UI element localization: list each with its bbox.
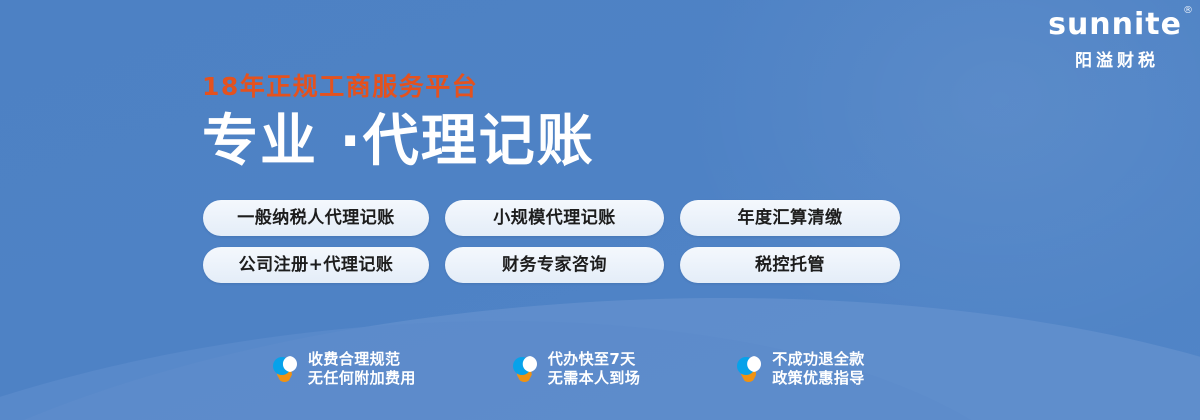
feature-item-pricing: 收费合理规范 无任何附加费用	[272, 350, 416, 388]
feature-text-guarantee: 不成功退全款 政策优惠指导	[772, 350, 864, 388]
service-pill-small-scale-bookkeeping[interactable]: 小规模代理记账	[445, 200, 664, 236]
service-pill-row-1: 一般纳税人代理记账 小规模代理记账 年度汇算清缴	[203, 200, 900, 236]
feature-text-pricing: 收费合理规范 无任何附加费用	[308, 350, 416, 388]
feature-line-1: 不成功退全款	[772, 350, 864, 368]
service-pill-finance-expert-consulting[interactable]: 财务专家咨询	[445, 247, 664, 283]
service-pill-company-registration-bookkeeping[interactable]: 公司注册+代理记账	[203, 247, 429, 283]
registered-trademark-icon: ®	[1183, 6, 1194, 16]
service-pill-annual-tax-settlement[interactable]: 年度汇算清缴	[680, 200, 900, 236]
background-wave-upper	[0, 276, 1097, 420]
service-pill-general-taxpayer-bookkeeping[interactable]: 一般纳税人代理记账	[203, 200, 429, 236]
eyebrow-text: 18年正规工商服务平台	[202, 72, 595, 102]
service-pill-tax-control-hosting[interactable]: 税控托管	[680, 247, 900, 283]
feature-line-2: 无任何附加费用	[308, 369, 416, 388]
feature-line-1: 代办快至7天	[548, 350, 636, 368]
logo-wordmark: sunnite ®	[1048, 8, 1182, 42]
feature-item-speed: 代办快至7天 无需本人到场	[512, 350, 640, 388]
brand-logo[interactable]: sunnite ® 阳溢财税	[1048, 8, 1182, 71]
headline-block: 18年正规工商服务平台 专业 ·代理记账	[202, 72, 595, 176]
logo-wordmark-text: sunnite	[1048, 7, 1182, 42]
feature-text-speed: 代办快至7天 无需本人到场	[548, 350, 640, 388]
droplet-moon-icon	[272, 354, 298, 384]
service-pill-grid: 一般纳税人代理记账 小规模代理记账 年度汇算清缴 公司注册+代理记账 财务专家咨…	[203, 200, 900, 294]
page-title: 专业 ·代理记账	[202, 108, 595, 176]
droplet-moon-icon	[512, 354, 538, 384]
promo-banner: sunnite ® 阳溢财税 18年正规工商服务平台 专业 ·代理记账 一般纳税…	[0, 0, 1200, 420]
feature-strip: 收费合理规范 无任何附加费用 代办快至7天 无需本人到场 不成功退全款	[272, 350, 865, 388]
droplet-moon-icon	[736, 354, 762, 384]
feature-line-2: 无需本人到场	[548, 369, 640, 388]
feature-line-1: 收费合理规范	[308, 350, 400, 368]
logo-subtitle: 阳溢财税	[1048, 46, 1182, 71]
feature-item-guarantee: 不成功退全款 政策优惠指导	[736, 350, 864, 388]
feature-line-2: 政策优惠指导	[772, 369, 864, 388]
service-pill-row-2: 公司注册+代理记账 财务专家咨询 税控托管	[203, 247, 900, 283]
